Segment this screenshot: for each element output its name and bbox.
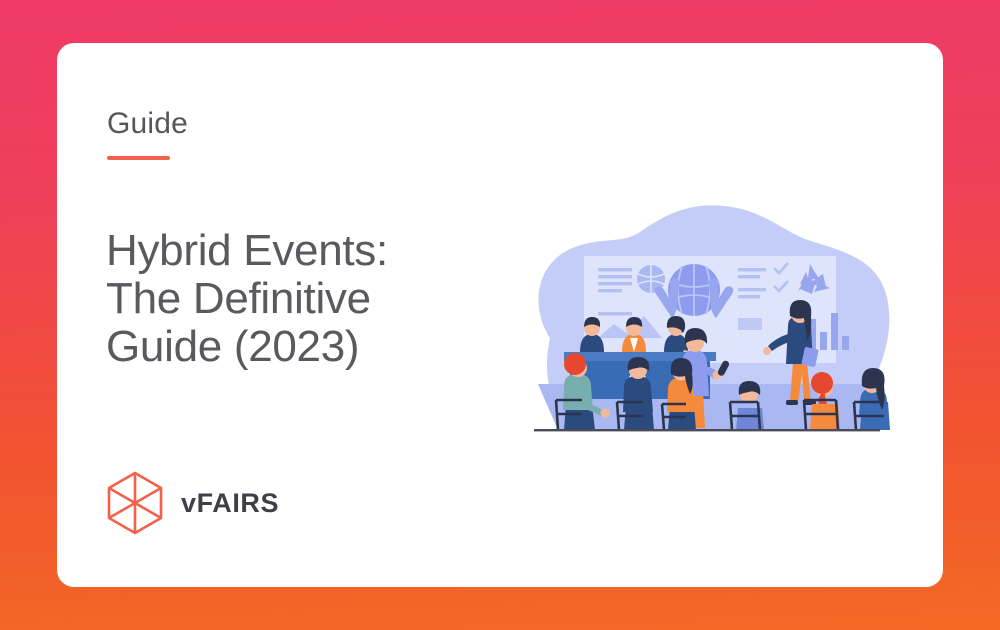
eyebrow-underline-rule [107, 156, 170, 160]
page-title-line-1: Hybrid Events: [106, 227, 456, 275]
ground-line [534, 429, 880, 431]
audience-orange-figure [667, 358, 696, 430]
hybrid-conference-illustration [472, 188, 922, 488]
eyebrow-label: Guide [107, 109, 188, 139]
content-card: Guide Hybrid Events: The Definitive Guid… [57, 43, 943, 587]
vfairs-hexagon-icon [106, 471, 164, 535]
page-title: Hybrid Events: The Definitive Guide (202… [106, 227, 456, 371]
poster-canvas: Guide Hybrid Events: The Definitive Guid… [0, 0, 1000, 630]
page-title-line-3: Guide (2023) [106, 323, 456, 371]
page-title-line-2: The Definitive [106, 275, 456, 323]
vfairs-wordmark: vFAIRS [181, 490, 279, 517]
vfairs-logo: vFAIRS [106, 471, 279, 535]
audience-blue-right [859, 368, 890, 430]
